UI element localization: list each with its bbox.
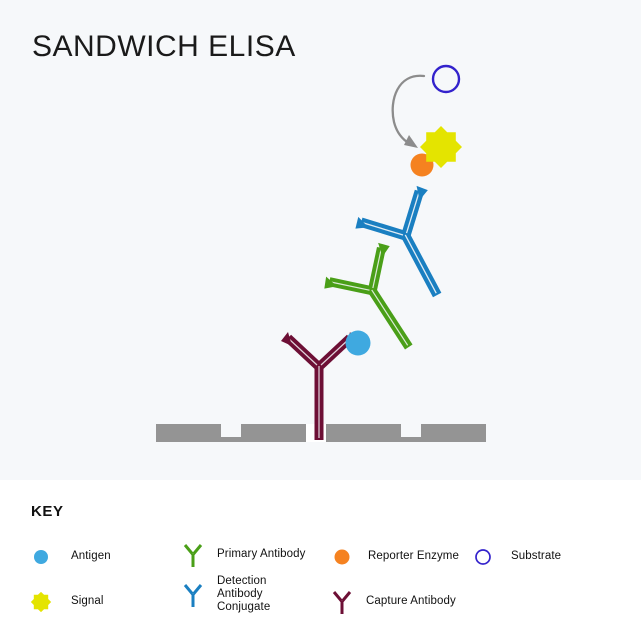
substrate-circle-icon <box>468 540 498 574</box>
antigen <box>346 331 371 356</box>
key-panel: KEY Antigen Signal <box>0 480 641 640</box>
legend: Antigen Signal <box>0 480 641 640</box>
reporter-enzyme-circle-icon <box>327 540 357 574</box>
signal-star-icon <box>26 585 56 619</box>
legend-item-detection-antibody[interactable]: Detection Antibody Conjugate <box>178 575 270 615</box>
legend-item-antigen[interactable]: Antigen <box>26 540 111 574</box>
antigen-circle-icon <box>26 540 56 574</box>
detection-antibody-icon <box>178 578 208 612</box>
reaction-arrow-icon <box>393 76 424 148</box>
legend-item-substrate[interactable]: Substrate <box>468 540 561 574</box>
capture-antibody <box>281 332 357 440</box>
capture-antibody-icon <box>327 585 357 619</box>
legend-label-antigen: Antigen <box>71 550 111 563</box>
sandwich-elisa-illustration <box>0 0 641 480</box>
diagram-panel: SANDWICH ELISA <box>0 0 641 480</box>
legend-item-primary-antibody[interactable]: Primary Antibody <box>178 538 306 572</box>
legend-label-primary-antibody: Primary Antibody <box>217 548 306 561</box>
legend-label-capture-antibody: Capture Antibody <box>366 595 456 608</box>
signal <box>420 126 462 168</box>
legend-label-detection-antibody: Detection Antibody Conjugate <box>217 575 270 615</box>
legend-item-capture-antibody[interactable]: Capture Antibody <box>327 585 456 619</box>
legend-label-substrate: Substrate <box>511 550 561 563</box>
legend-item-reporter-enzyme[interactable]: Reporter Enzyme <box>327 540 459 574</box>
legend-label-signal: Signal <box>71 595 104 608</box>
legend-item-signal[interactable]: Signal <box>26 585 104 619</box>
substrate <box>433 66 459 92</box>
primary-antibody-icon <box>178 538 208 572</box>
legend-label-reporter-enzyme: Reporter Enzyme <box>368 550 459 563</box>
elisa-diagram-page: SANDWICH ELISA <box>0 0 641 640</box>
